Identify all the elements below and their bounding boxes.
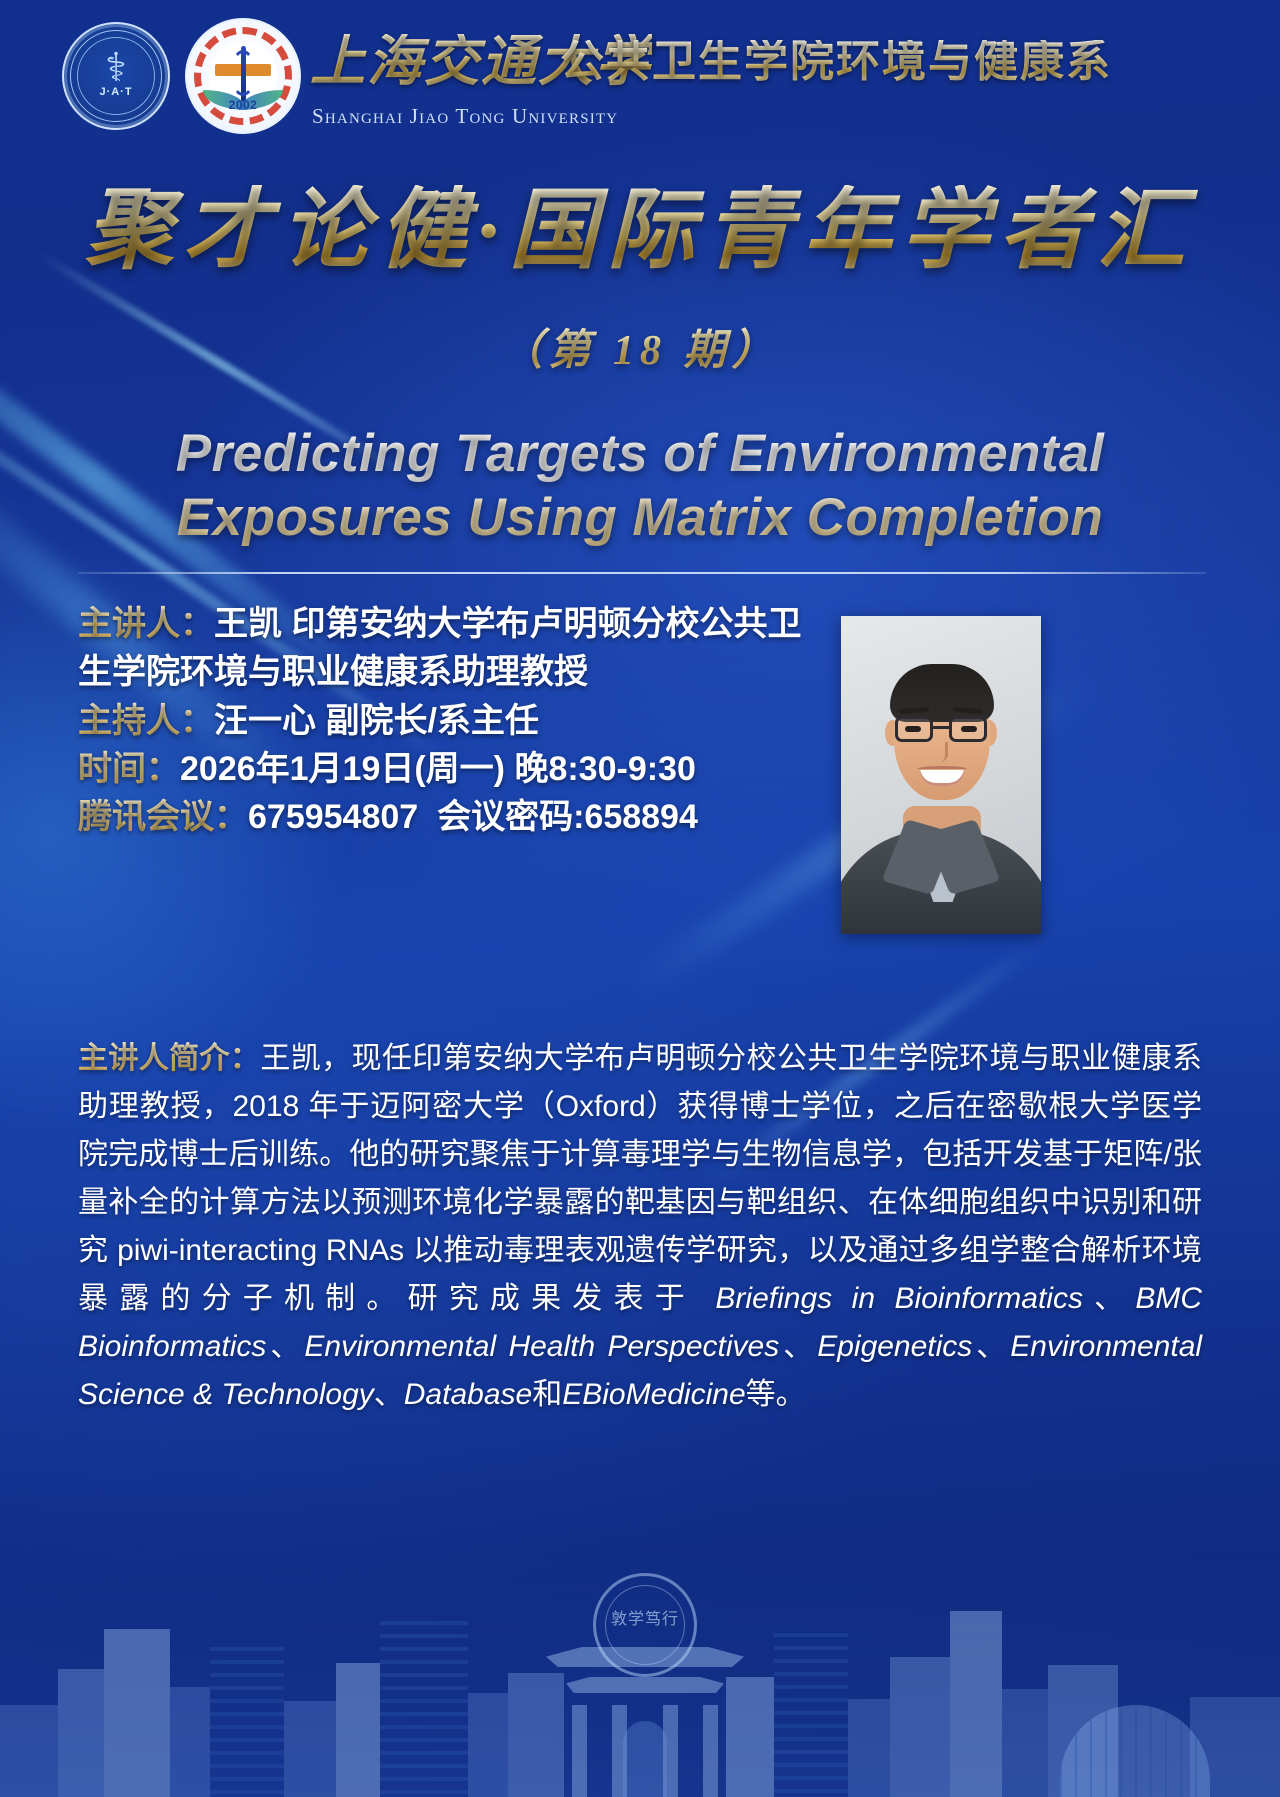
poster-canvas: ⚕ J·A·T 2002 上海交通大学 公共卫生学院环境与健康系 Shangha… <box>0 0 1280 1797</box>
host-label: 主持人： <box>78 702 214 740</box>
issue-number: （第 18 期） <box>0 316 1280 377</box>
department-name-cn: 公共卫生学院环境与健康系 <box>560 40 1112 84</box>
university-name-en: Shanghai Jiao Tong University <box>312 104 618 129</box>
snake-icon <box>232 50 254 96</box>
bio-label: 主讲人简介： <box>78 1042 260 1075</box>
sjtu-medicine-logo-icon: ⚕ J·A·T <box>62 22 170 130</box>
meeting-spacer <box>418 798 437 836</box>
city-skyline-graphic: 敦学笃行 <box>0 1547 1280 1797</box>
speaker-bio: 主讲人简介：王凯，现任印第安纳大学布卢明顿分校公共卫生学院环境与职业健康系助理教… <box>78 1035 1202 1419</box>
bio-joiner: 、 <box>266 1330 304 1363</box>
talk-title-line-2: Exposures Using Matrix Completion <box>90 486 1190 550</box>
building <box>170 1687 210 1797</box>
building <box>0 1705 58 1797</box>
building <box>336 1663 380 1797</box>
eye-left <box>905 726 921 732</box>
building <box>210 1647 284 1797</box>
journal-name: Database <box>404 1378 532 1411</box>
building <box>468 1693 508 1797</box>
meeting-id: 675954807 <box>248 798 418 836</box>
bio-joiner: 、 <box>1083 1282 1135 1315</box>
building <box>848 1699 890 1797</box>
speaker-label: 主讲人： <box>78 605 214 643</box>
seal-text: 敦学笃行 <box>596 1610 694 1630</box>
logo-abbreviation: J·A·T <box>64 86 168 98</box>
building <box>104 1629 170 1797</box>
meeting-row: 腾讯会议：675954807 会议密码:658894 <box>78 793 868 841</box>
bio-text: 王凯，现任印第安纳大学布卢明顿分校公共卫生学院环境与职业健康系助理教授，2018… <box>78 1042 1202 1315</box>
journal-name: Epigenetics <box>817 1330 972 1363</box>
time-value: 2026年1月19日(周一) 晚8:30-9:30 <box>180 750 696 788</box>
building <box>58 1669 104 1797</box>
meeting-label: 腾讯会议： <box>78 798 248 836</box>
building <box>1002 1689 1048 1797</box>
bio-joiner: 、 <box>779 1330 817 1363</box>
talk-title-line-1: Predicting Targets of Environmental <box>90 422 1190 486</box>
building <box>380 1621 468 1797</box>
speaker-photo <box>841 616 1041 934</box>
speaker-value-line-1: 王凯 印第安纳大学布卢明顿分校公共卫 <box>214 605 801 643</box>
building <box>774 1633 848 1797</box>
upper-lip <box>917 766 967 772</box>
bio-tail: 等。 <box>746 1378 806 1411</box>
journal-name-last: EBioMedicine <box>562 1378 745 1411</box>
bio-joiner: 、 <box>972 1330 1010 1363</box>
eye-right <box>961 726 977 732</box>
university-seal-icon: 敦学笃行 <box>593 1573 697 1677</box>
event-info-block: 主讲人：王凯 印第安纳大学布卢明顿分校公共卫 生学院环境与职业健康系助理教授 主… <box>78 600 868 841</box>
gate-column <box>572 1705 587 1797</box>
sjtu-public-health-logo-icon: 2002 <box>185 18 301 134</box>
speaker-row: 主讲人：王凯 印第安纳大学布卢明顿分校公共卫 <box>78 600 868 648</box>
building <box>508 1673 564 1797</box>
journal-name: Environmental Health Perspectives <box>304 1330 779 1363</box>
gate-roof-lower <box>566 1677 724 1693</box>
building <box>726 1677 774 1797</box>
meeting-password: 658894 <box>584 798 697 836</box>
bio-joiner: 、 <box>374 1378 404 1411</box>
time-label: 时间： <box>78 750 180 788</box>
logo-year: 2002 <box>187 98 299 112</box>
meeting-password-label: 会议密码: <box>437 798 584 836</box>
talk-title-en: Predicting Targets of Environmental Expo… <box>90 422 1190 549</box>
bio-and: 和 <box>532 1378 562 1411</box>
eyeglasses-bridge-icon <box>933 726 951 729</box>
host-row: 主持人：汪一心 副院长/系主任 <box>78 697 868 745</box>
caduceus-icon: ⚕ <box>64 48 168 88</box>
poster-header: ⚕ J·A·T 2002 上海交通大学 公共卫生学院环境与健康系 Shangha… <box>0 0 1280 150</box>
divider-rule <box>78 572 1206 574</box>
building <box>890 1657 950 1797</box>
nose <box>936 742 948 762</box>
journal-name: Briefings in Bioinformatics <box>715 1282 1083 1315</box>
speaker-value-line-2: 生学院环境与职业健康系助理教授 <box>78 653 588 691</box>
building <box>950 1611 1002 1797</box>
series-title-cn: 聚才论健·国际青年学者汇 <box>0 185 1280 278</box>
gate-column <box>703 1705 718 1797</box>
speaker-row-continued: 生学院环境与职业健康系助理教授 <box>78 648 868 696</box>
time-row: 时间：2026年1月19日(周一) 晚8:30-9:30 <box>78 745 868 793</box>
host-value: 汪一心 副院长/系主任 <box>214 702 539 740</box>
gate-archway <box>623 1721 667 1797</box>
building <box>284 1701 336 1797</box>
